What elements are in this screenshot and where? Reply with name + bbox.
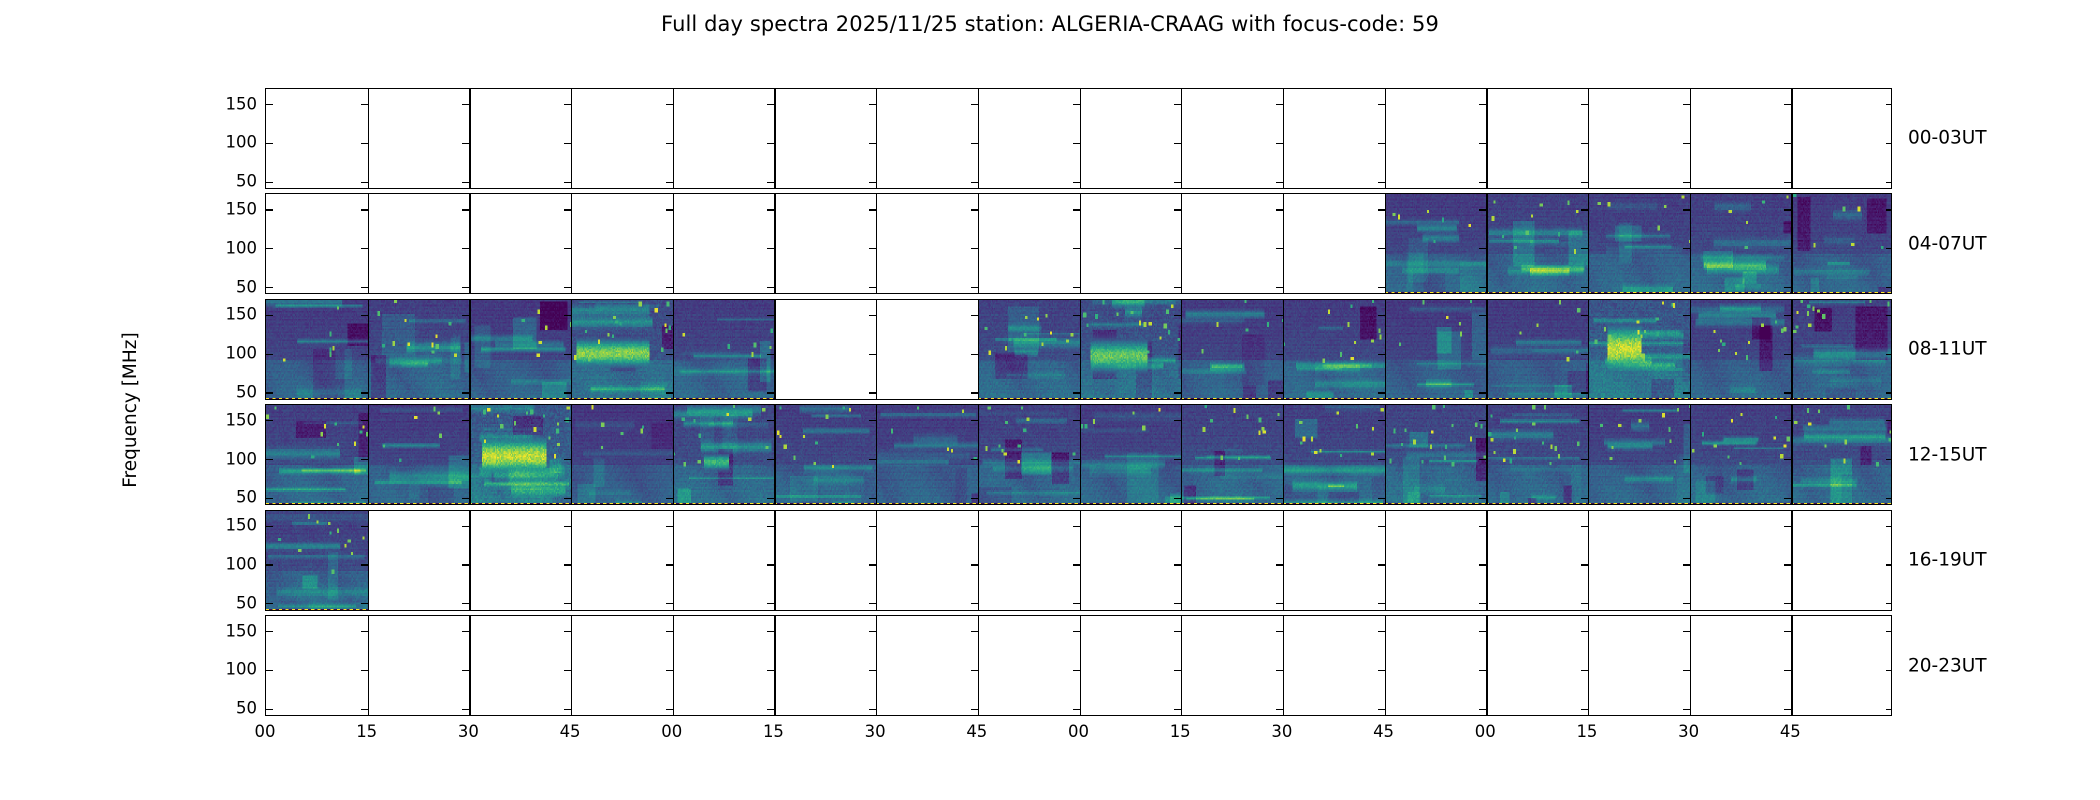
axis-tick xyxy=(462,209,469,210)
axis-tick xyxy=(767,420,774,421)
axis-tick xyxy=(1073,182,1080,183)
axis-tick xyxy=(869,459,876,460)
axis-tick xyxy=(971,392,978,393)
spectrogram-panel[interactable] xyxy=(1181,405,1284,505)
axis-tick xyxy=(869,631,876,632)
axis-tick xyxy=(666,526,673,527)
row-label: 04-07UT xyxy=(1908,233,1987,254)
axis-tick xyxy=(767,315,774,316)
axis-tick xyxy=(1378,354,1385,355)
axis-tick xyxy=(1784,354,1791,355)
spectrogram-panel[interactable] xyxy=(1588,405,1691,505)
x-tick-label: 15 xyxy=(1170,722,1191,741)
spectrogram-panel[interactable] xyxy=(1791,300,1892,400)
panel-separator xyxy=(1791,511,1792,610)
x-tick-label: 30 xyxy=(458,722,479,741)
x-tick-label: 45 xyxy=(1373,722,1394,741)
panel-separator xyxy=(1791,616,1792,715)
y-tick-label: 100 xyxy=(226,660,258,679)
spectrogram-panel[interactable] xyxy=(978,405,1081,505)
axis-tick xyxy=(1479,209,1486,210)
axis-tick xyxy=(1683,315,1690,316)
x-tick-label: 30 xyxy=(1678,722,1699,741)
axis-tick xyxy=(1276,182,1283,183)
axis-tick xyxy=(564,248,571,249)
panel-separator xyxy=(876,511,877,610)
axis-tick xyxy=(1683,143,1690,144)
panel-separator xyxy=(1690,405,1691,504)
axis-tick xyxy=(1276,631,1283,632)
axis-tick xyxy=(1378,209,1385,210)
axis-tick xyxy=(1784,182,1791,183)
spectrogram-panel[interactable] xyxy=(266,405,369,505)
axis-tick xyxy=(1378,459,1385,460)
axis-tick xyxy=(1276,209,1283,210)
axis-tick xyxy=(666,248,673,249)
panel-separator xyxy=(774,89,775,188)
axis-tick xyxy=(1479,564,1486,565)
axis-tick xyxy=(971,526,978,527)
axis-tick xyxy=(1886,709,1892,710)
x-tick-labels: 00153045001530450015304500153045 xyxy=(265,722,1892,752)
spectrogram-panel[interactable] xyxy=(1486,405,1589,505)
axis-tick xyxy=(564,420,571,421)
axis-tick xyxy=(266,104,273,105)
axis-tick xyxy=(767,182,774,183)
panel-separator xyxy=(978,300,979,399)
axis-tick xyxy=(462,392,469,393)
axis-tick xyxy=(666,603,673,604)
panel-separator xyxy=(673,89,674,188)
axis-tick xyxy=(462,143,469,144)
axis-tick xyxy=(361,459,368,460)
spectrogram-panel[interactable] xyxy=(1690,300,1793,400)
axis-tick xyxy=(361,354,368,355)
spectrogram-panel[interactable] xyxy=(1791,405,1892,505)
spectrogram-panel[interactable] xyxy=(774,405,877,505)
axis-tick xyxy=(1581,182,1588,183)
panel-separator xyxy=(1080,616,1081,715)
axis-tick xyxy=(1784,603,1791,604)
axis-tick xyxy=(1276,315,1283,316)
axis-tick xyxy=(1174,709,1181,710)
axis-tick xyxy=(1073,631,1080,632)
axis-tick xyxy=(1683,420,1690,421)
spectrogram-row[interactable] xyxy=(265,193,1892,294)
spectrogram-panel[interactable] xyxy=(571,405,674,505)
axis-tick xyxy=(767,709,774,710)
spectrogram-panel[interactable] xyxy=(673,300,776,400)
axis-tick xyxy=(1886,354,1892,355)
spectrogram-panel[interactable] xyxy=(469,300,572,400)
axis-tick xyxy=(462,104,469,105)
y-tick-label: 150 xyxy=(226,94,258,113)
axis-tick xyxy=(1886,315,1892,316)
axis-tick xyxy=(1378,670,1385,671)
axis-tick xyxy=(869,420,876,421)
spectrogram-panel[interactable] xyxy=(1690,405,1793,505)
axis-tick xyxy=(1784,143,1791,144)
axis-tick xyxy=(1581,631,1588,632)
axis-tick xyxy=(1886,248,1892,249)
axis-tick xyxy=(1378,498,1385,499)
axis-tick xyxy=(767,459,774,460)
axis-tick xyxy=(266,420,273,421)
axis-tick xyxy=(1479,104,1486,105)
panel-separator xyxy=(876,405,877,504)
axis-tick xyxy=(666,209,673,210)
axis-tick xyxy=(971,603,978,604)
panel-separator xyxy=(1385,405,1386,504)
axis-tick xyxy=(971,498,978,499)
axis-tick xyxy=(1174,143,1181,144)
panel-separator xyxy=(774,511,775,610)
axis-tick xyxy=(971,104,978,105)
axis-tick xyxy=(666,104,673,105)
axis-tick xyxy=(1581,459,1588,460)
axis-tick xyxy=(1378,182,1385,183)
panel-separator xyxy=(368,300,369,399)
axis-tick xyxy=(462,315,469,316)
axis-tick xyxy=(869,182,876,183)
axis-tick xyxy=(1174,209,1181,210)
axis-tick xyxy=(1174,182,1181,183)
axis-tick xyxy=(1784,670,1791,671)
panel-separator xyxy=(1486,300,1487,399)
axis-tick xyxy=(1581,564,1588,565)
axis-tick xyxy=(666,459,673,460)
panel-separator xyxy=(1588,616,1589,715)
axis-tick xyxy=(869,287,876,288)
axis-tick xyxy=(1581,420,1588,421)
axis-tick xyxy=(767,670,774,671)
spectrogram-row[interactable] xyxy=(265,510,1892,611)
y-tick-label: 150 xyxy=(226,199,258,218)
spectrogram-row-frame xyxy=(265,404,1892,505)
axis-tick xyxy=(1174,420,1181,421)
axis-tick xyxy=(666,392,673,393)
axis-tick xyxy=(1581,392,1588,393)
axis-tick xyxy=(1174,104,1181,105)
panel-separator xyxy=(1486,405,1487,504)
axis-tick xyxy=(462,564,469,565)
axis-tick xyxy=(1784,209,1791,210)
axis-tick xyxy=(1479,182,1486,183)
axis-tick xyxy=(564,709,571,710)
axis-tick xyxy=(1886,603,1892,604)
axis-tick xyxy=(767,564,774,565)
axis-tick xyxy=(361,603,368,604)
page-title: Full day spectra 2025/11/25 station: ALG… xyxy=(0,12,2100,36)
axis-tick xyxy=(869,392,876,393)
spectrogram-panel[interactable] xyxy=(571,300,674,400)
axis-tick xyxy=(1886,631,1892,632)
y-tick-label: 150 xyxy=(226,516,258,535)
panel-separator xyxy=(1385,511,1386,610)
axis-tick xyxy=(1378,603,1385,604)
axis-tick xyxy=(1479,526,1486,527)
spectrogram-panel[interactable] xyxy=(1283,405,1386,505)
axis-tick xyxy=(1581,209,1588,210)
panel-separator xyxy=(1385,89,1386,188)
y-tick-label: 100 xyxy=(226,449,258,468)
panel-separator xyxy=(774,616,775,715)
panel-separator xyxy=(1181,300,1182,399)
axis-tick xyxy=(1683,564,1690,565)
spectrogram-panel[interactable] xyxy=(266,300,369,400)
axis-tick xyxy=(1276,603,1283,604)
spectrogram-panel[interactable] xyxy=(1283,300,1386,400)
axis-tick xyxy=(1073,459,1080,460)
panel-separator xyxy=(1283,405,1284,504)
panel-separator xyxy=(978,405,979,504)
spectrogram-panel[interactable] xyxy=(1385,194,1488,294)
spectrogram-panel[interactable] xyxy=(1588,300,1691,400)
axis-tick xyxy=(266,143,273,144)
axis-tick xyxy=(1276,498,1283,499)
panel-separator xyxy=(368,89,369,188)
axis-tick xyxy=(971,182,978,183)
axis-tick xyxy=(1073,104,1080,105)
axis-tick xyxy=(869,564,876,565)
spectrogram-panel[interactable] xyxy=(876,405,979,505)
axis-tick xyxy=(1479,631,1486,632)
spectrogram-panel[interactable] xyxy=(368,300,471,400)
y-tick-label: 150 xyxy=(226,305,258,324)
axis-tick xyxy=(1886,182,1892,183)
axis-tick xyxy=(266,498,273,499)
axis-tick xyxy=(1886,420,1892,421)
panel-separator xyxy=(673,616,674,715)
spectrogram-row[interactable] xyxy=(265,404,1892,505)
axis-tick xyxy=(1479,287,1486,288)
axis-tick xyxy=(1378,143,1385,144)
x-tick-label: 00 xyxy=(1068,722,1089,741)
axis-tick xyxy=(564,143,571,144)
axis-tick xyxy=(1581,709,1588,710)
panel-separator xyxy=(571,194,572,293)
axis-tick xyxy=(1479,670,1486,671)
axis-tick xyxy=(266,392,273,393)
axis-tick xyxy=(564,498,571,499)
panel-separator xyxy=(571,616,572,715)
axis-tick xyxy=(1276,670,1283,671)
x-tick-label: 45 xyxy=(966,722,987,741)
x-tick-label: 45 xyxy=(1780,722,1801,741)
axis-tick xyxy=(266,287,273,288)
axis-tick xyxy=(1073,498,1080,499)
axis-tick xyxy=(1174,248,1181,249)
spectrogram-row-frame xyxy=(265,510,1892,611)
x-tick-label: 30 xyxy=(865,722,886,741)
x-tick-label: 15 xyxy=(763,722,784,741)
spectrogram-panel[interactable] xyxy=(1080,405,1183,505)
panel-separator xyxy=(469,194,470,293)
axis-tick xyxy=(1581,498,1588,499)
spectrogram-panel[interactable] xyxy=(1690,194,1793,294)
axis-tick xyxy=(361,248,368,249)
panel-separator xyxy=(1791,89,1792,188)
axis-tick xyxy=(361,315,368,316)
y-tick-label: 50 xyxy=(236,382,257,401)
axis-tick xyxy=(361,287,368,288)
panel-separator xyxy=(1588,89,1589,188)
axis-tick xyxy=(1378,709,1385,710)
y-tick-label: 50 xyxy=(236,593,257,612)
axis-tick xyxy=(1479,420,1486,421)
axis-tick xyxy=(1886,670,1892,671)
axis-tick xyxy=(1581,248,1588,249)
axis-tick xyxy=(1784,248,1791,249)
axis-tick xyxy=(361,392,368,393)
spectrogram-panel[interactable] xyxy=(266,511,369,611)
axis-tick xyxy=(767,104,774,105)
y-tick-labels: 1501005015010050150100501501005015010050… xyxy=(175,88,257,716)
axis-tick xyxy=(1276,564,1283,565)
spectrogram-panel[interactable] xyxy=(673,405,776,505)
axis-tick xyxy=(1784,287,1791,288)
axis-tick xyxy=(361,104,368,105)
spectrogram-panel[interactable] xyxy=(1588,194,1691,294)
axis-tick xyxy=(1784,392,1791,393)
row-labels: 00-03UT04-07UT08-11UT12-15UT16-19UT20-23… xyxy=(1908,88,2098,716)
axis-tick xyxy=(1886,564,1892,565)
axis-tick xyxy=(564,287,571,288)
axis-tick xyxy=(1784,420,1791,421)
panel-separator xyxy=(1283,616,1284,715)
axis-tick xyxy=(1378,104,1385,105)
axis-tick xyxy=(462,248,469,249)
panel-separator xyxy=(1791,300,1792,399)
panel-separator xyxy=(1588,194,1589,293)
spectrogram-panel[interactable] xyxy=(469,405,572,505)
panel-separator xyxy=(876,89,877,188)
spectrogram-panel[interactable] xyxy=(1080,300,1183,400)
axis-tick xyxy=(1073,354,1080,355)
panel-separator xyxy=(1181,194,1182,293)
axis-tick xyxy=(1683,104,1690,105)
axis-tick xyxy=(1073,392,1080,393)
axis-tick xyxy=(1276,709,1283,710)
panel-separator xyxy=(876,300,877,399)
axis-tick xyxy=(462,526,469,527)
axis-tick xyxy=(1581,603,1588,604)
axis-tick xyxy=(666,143,673,144)
axis-tick xyxy=(971,248,978,249)
spectrogram-panel[interactable] xyxy=(1486,300,1589,400)
y-tick-label: 100 xyxy=(226,238,258,257)
axis-tick xyxy=(767,392,774,393)
axis-tick xyxy=(1378,420,1385,421)
axis-tick xyxy=(1174,670,1181,671)
axis-tick xyxy=(564,603,571,604)
axis-tick xyxy=(1479,392,1486,393)
axis-tick xyxy=(971,287,978,288)
panel-separator xyxy=(1588,300,1589,399)
y-axis-title: Frequency [MHz] xyxy=(120,260,141,560)
axis-tick xyxy=(767,498,774,499)
x-tick-label: 00 xyxy=(661,722,682,741)
spectrogram-row[interactable] xyxy=(265,88,1892,189)
axis-tick xyxy=(1683,182,1690,183)
axis-tick xyxy=(266,459,273,460)
axis-tick xyxy=(971,420,978,421)
axis-tick xyxy=(1276,459,1283,460)
panel-separator xyxy=(368,405,369,504)
axis-tick xyxy=(1378,631,1385,632)
axis-tick xyxy=(1886,392,1892,393)
axis-tick xyxy=(266,526,273,527)
axis-tick xyxy=(1683,392,1690,393)
axis-tick xyxy=(1784,498,1791,499)
axis-tick xyxy=(1479,603,1486,604)
spectrogram-row[interactable] xyxy=(265,299,1892,400)
axis-tick xyxy=(1276,104,1283,105)
axis-tick xyxy=(1378,315,1385,316)
panel-separator xyxy=(1283,300,1284,399)
axis-tick xyxy=(1073,420,1080,421)
axis-tick xyxy=(869,498,876,499)
panel-separator xyxy=(1690,194,1691,293)
spectrogram-panel[interactable] xyxy=(1486,194,1589,294)
axis-tick xyxy=(767,248,774,249)
axis-tick xyxy=(869,248,876,249)
panel-separator xyxy=(978,511,979,610)
panel-separator xyxy=(1385,616,1386,715)
panel-separator xyxy=(673,511,674,610)
spectrogram-panel[interactable] xyxy=(1791,194,1892,294)
axis-tick xyxy=(462,182,469,183)
axis-tick xyxy=(462,498,469,499)
axis-tick xyxy=(971,631,978,632)
axis-tick xyxy=(361,709,368,710)
axis-tick xyxy=(1276,354,1283,355)
spectrogram-panel[interactable] xyxy=(978,300,1081,400)
axis-tick xyxy=(1479,354,1486,355)
axis-tick xyxy=(462,287,469,288)
axis-tick xyxy=(971,354,978,355)
panel-separator xyxy=(469,405,470,504)
axis-tick xyxy=(1378,248,1385,249)
axis-tick xyxy=(1683,709,1690,710)
axis-tick xyxy=(266,209,273,210)
spectrogram-panel[interactable] xyxy=(1385,300,1488,400)
axis-tick xyxy=(1276,420,1283,421)
axis-tick xyxy=(1378,287,1385,288)
axis-tick xyxy=(1683,287,1690,288)
axis-tick xyxy=(1886,498,1892,499)
spectrogram-panel[interactable] xyxy=(1385,405,1488,505)
axis-tick xyxy=(767,603,774,604)
row-label: 12-15UT xyxy=(1908,444,1987,465)
spectrogram-row-frame xyxy=(265,88,1892,189)
axis-tick xyxy=(361,498,368,499)
spectrogram-panel[interactable] xyxy=(1181,300,1284,400)
axis-tick xyxy=(564,354,571,355)
axis-tick xyxy=(666,354,673,355)
axis-tick xyxy=(767,209,774,210)
axis-tick xyxy=(869,104,876,105)
axis-tick xyxy=(1479,315,1486,316)
axis-tick xyxy=(1174,392,1181,393)
x-tick-label: 30 xyxy=(1271,722,1292,741)
axis-tick xyxy=(971,709,978,710)
spectrogram-panel[interactable] xyxy=(368,405,471,505)
panel-separator xyxy=(1283,194,1284,293)
panel-separator xyxy=(1791,194,1792,293)
spectrogram-row[interactable] xyxy=(265,615,1892,716)
panel-separator xyxy=(774,405,775,504)
